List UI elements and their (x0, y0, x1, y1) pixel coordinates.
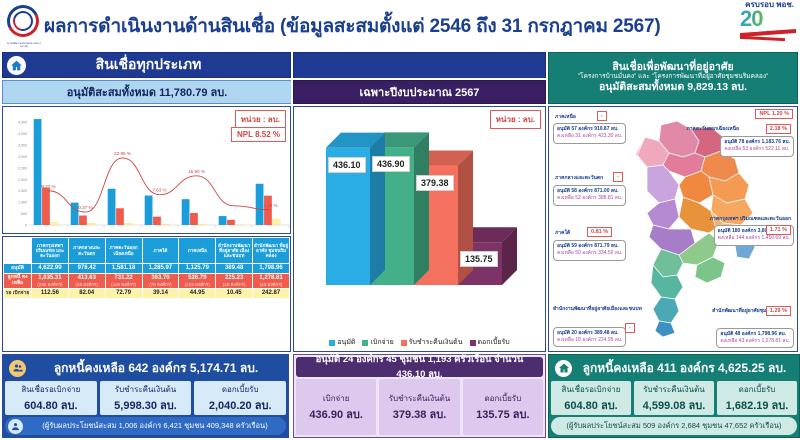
col-header-4: ภาคเหนือ (179, 238, 216, 264)
housing-loan-title: สินเชื่อเพื่อพัฒนาที่อยู่อาศัย (551, 61, 795, 73)
metric-disbursed: เบิกจ่าย 436.90 ลบ. (296, 379, 376, 435)
mid-column: เฉพาะปีงบประมาณ 2567 หน่วย : ลบ. 436.104… (293, 52, 546, 438)
svg-text:4,500: 4,500 (18, 120, 27, 124)
region-data-table: ภาคกรุงเทพฯ ปริมณฑล และตะวันออก ภาคกลางแ… (3, 237, 290, 299)
fiscal-3d-bar-chart (294, 107, 545, 319)
cell-r1c3: 363.70(70 องค์กร) (142, 273, 179, 288)
table-row: ลูกหนี้ คงเหลือ 1,635.31(236 องค์กร) 413… (4, 273, 290, 288)
bottom-blue-footer: (ผู้รับผลประโยชน์สะสม 1,006 องค์กร 6,421… (5, 417, 286, 435)
metric-principal-housing: รับชำระคืนเงินต้น 4,599.08 ลบ. (634, 381, 714, 415)
region-label-central: ภาคกลางและตะวันตก (555, 174, 603, 182)
cell-r0c3: 1,285.97 (142, 264, 179, 274)
metric-label: ดอกเบี้ยรับ (194, 383, 286, 396)
legend-item[interactable]: อนุมัติ (329, 337, 355, 348)
region-npl-south: 0.81 % (587, 227, 612, 237)
cell-r2c4: 44.95 (179, 289, 216, 299)
metric-principal-repaid: รับชำระคืนเงินต้น 5,998.30 ลบ. (100, 381, 192, 415)
svg-text:9.27 %: 9.27 % (41, 184, 55, 189)
home-icon[interactable] (7, 56, 26, 75)
table-row: อนุมัติ 4,622.99 976.42 1,581.18 1,285.9… (4, 264, 290, 274)
region-npl-urban-rural: - (625, 323, 635, 333)
col-header-0: ภาคกรุงเทพฯ ปริมณฑล และตะวันออก (32, 238, 69, 264)
metric-value: 4,599.08 ลบ. (634, 396, 714, 414)
table-header-row: ภาคกรุงเทพฯ ปริมณฑล และตะวันออก ภาคกลางแ… (4, 238, 290, 264)
metric-pending-disbursement: สินเชื่อรอเบิกจ่าย 604.80 ลบ. (5, 381, 97, 415)
region-label-northeast: ภาคตะวันออกเฉียงเหนือ (686, 125, 739, 133)
metric-principal-repaid-fiscal: รับชำระคืนเงินต้น 379.38 ลบ. (379, 379, 459, 435)
housing-loan-total: อนุมัติสะสมทั้งหมด 9,829.13 ลบ. (551, 81, 795, 94)
metric-interest-housing: ดอกเบี้ยรับ 1,682.19 ลบ. (717, 381, 797, 415)
bar-series (34, 119, 289, 228)
callout-remaining: คงเหลือ 18 องค์กร 224.95 ลบ. (557, 337, 622, 344)
region-label-north: ภาคเหนือ (555, 113, 576, 121)
region-callout-south: อนุมัติ 59 องค์กร 871.79 ลบ. คงเหลือ 50 … (553, 240, 626, 261)
metric-pending-housing: สินเชื่อรอเบิกจ่าย 604.80 ลบ. (551, 381, 631, 415)
bottom-blue-cells: สินเชื่อรอเบิกจ่าย 604.80 ลบ. รับชำระคืน… (5, 381, 286, 415)
legend-label: ดอกเบี้ยรับ (478, 337, 510, 348)
metric-label: รับชำระคืนเงินต้น (634, 383, 714, 396)
user-group-icon (8, 419, 23, 434)
metric-label: รับชำระคืนเงินต้น (379, 392, 459, 405)
region-callout-central: อนุมัติ 58 องค์กร 871.00 ลบ. คงเหลือ 52 … (553, 185, 626, 206)
metric-label: ดอกเบี้ยรับ (717, 383, 797, 396)
svg-text:15.50 %: 15.50 % (188, 169, 205, 174)
svg-text:22.95 %: 22.95 % (114, 151, 131, 156)
col-header-2: ภาคตะวันออก เฉียงเหนือ (105, 238, 142, 264)
fiscal-year-header-spacer (293, 52, 546, 78)
bottom-panel-housing: ลูกหนี้คงเหลือ 411 องค์กร 4,625.25 ลบ. ส… (548, 354, 800, 438)
svg-text:2,500: 2,500 (18, 166, 27, 170)
right-column: สินเชื่อเพื่อพัฒนาที่อยู่อาศัย "โครงการบ… (548, 52, 798, 438)
metric-label: รับชำระคืนเงินต้น (100, 383, 192, 396)
table-row: รอ เบิกจ่าย 112.56 82.04 72.79 39.14 44.… (4, 289, 290, 299)
cell-r1c4: 526.79(103 องค์กร) (179, 273, 216, 288)
svg-text:3,000: 3,000 (18, 155, 27, 159)
metric-value: 1,682.19 ลบ. (717, 396, 797, 414)
fiscal-year-banner: เฉพาะปีงบประมาณ 2567 (293, 80, 546, 104)
legend-label: อนุมัติ (337, 337, 355, 348)
metric-value: 379.38 ลบ. (379, 405, 459, 423)
metric-value: 135.75 ลบ. (463, 405, 543, 423)
svg-text:7.63 %: 7.63 % (152, 188, 166, 193)
row-label-pending: รอ เบิกจ่าย (4, 289, 32, 299)
metric-interest-received: ดอกเบี้ยรับ 2,040.20 ลบ. (194, 381, 286, 415)
cell-r1c0: 1,635.31(236 องค์กร) (32, 273, 69, 288)
thailand-map-panel: ภาคเหนือ - อนุมัติ 57 องค์กร 910.87 ลบ. … (548, 106, 798, 352)
row-label-approved: อนุมัติ (4, 264, 32, 274)
row-label-remaining: ลูกหนี้ คงเหลือ (4, 273, 32, 288)
cell-r1c6: 1,278.81(43 องค์กร) (253, 273, 290, 288)
people-icon (9, 360, 26, 377)
region-npl-northeast: 2.18 % (766, 124, 791, 134)
cell-value: 1,635.31 (38, 275, 61, 281)
legend-swatch (401, 340, 407, 346)
bar-value-label: 379.38 (416, 175, 454, 191)
callout-remaining: คงเหลือ 52 องค์กร 388.81 ลบ. (557, 195, 622, 202)
dashboard-body: สินเชื่อทุกประเภท อนุมัติสะสมทั้งหมด 11,… (2, 52, 798, 438)
bottom-teal-footer-text: (ผู้รับผลประโยชน์สะสม 509 องค์กร 2,684 ช… (554, 420, 794, 432)
cell-r0c2: 1,581.18 (105, 264, 142, 274)
callout-remaining: คงเหลือ 144 องค์กร 1,450.69 ลบ. (718, 235, 790, 242)
table-corner (4, 238, 32, 264)
page-header: สถาบันพัฒนาองค์กรชุมชน (องค์การมหาชน) ผล… (0, 0, 800, 52)
metric-label: สินเชื่อรอเบิกจ่าย (5, 383, 97, 396)
cell-value: 731.22 (114, 275, 132, 281)
housing-loan-header: สินเชื่อเพื่อพัฒนาที่อยู่อาศัย "โครงการบ… (548, 52, 798, 104)
region-npl-north: - (597, 111, 607, 121)
cell-sub: (103 องค์กร) (179, 282, 215, 287)
npl-trend-line (49, 158, 271, 212)
bottom-blue-title: ลูกหนี้คงเหลือ 642 องค์กร 5,174.71 ลบ. (30, 359, 282, 378)
cell-value: 363.70 (151, 275, 169, 281)
bottom-teal-footer: (ผู้รับผลประโยชน์สะสม 509 องค์กร 2,684 ช… (551, 417, 797, 435)
codi-logo: สถาบันพัฒนาองค์กรชุมชน (องค์การมหาชน) (4, 3, 44, 49)
cell-value: 413.63 (78, 275, 96, 281)
cell-sub: (116 องค์กร) (106, 282, 142, 287)
page-title: ผลการดำเนินงานด้านสินเชื่อ (ข้อมูลสะสมตั… (44, 11, 740, 41)
cell-r1c5: 225.23(18 องค์กร) (216, 273, 253, 288)
region-npl-central: - (613, 172, 623, 182)
legend-item[interactable]: เบิกจ่าย (362, 337, 393, 348)
metric-value: 2,040.20 ลบ. (194, 396, 286, 414)
bottom-teal-title: ลูกหนี้คงเหลือ 411 องค์กร 4,625.25 ลบ. (576, 359, 793, 378)
region-npl-bangkok: 1.71 % (766, 225, 791, 235)
legend-label: เบิกจ่าย (370, 337, 393, 348)
cell-r2c0: 112.56 (32, 289, 69, 299)
npl-badge-right: NPL 1.20 % (755, 109, 793, 119)
bar-value-label: 135.75 (460, 251, 498, 267)
bottom-purple-cells: เบิกจ่าย 436.90 ลบ. รับชำระคืนเงินต้น 37… (296, 379, 543, 435)
bottom-teal-title-row: ลูกหนี้คงเหลือ 411 องค์กร 4,625.25 ลบ. (551, 357, 797, 379)
svg-text:500: 500 (21, 212, 27, 216)
bottom-blue-footer-text: (ผู้รับผลประโยชน์สะสม 1,006 องค์กร 6,421… (27, 420, 283, 432)
col-header-6: สำนักพัฒนา ที่อยู่อาศัย ชุมชนริมคลอง (253, 238, 290, 264)
col-header-3: ภาคใต้ (142, 238, 179, 264)
metric-label: เบิกจ่าย (296, 392, 376, 405)
metric-label: สินเชื่อรอเบิกจ่าย (551, 383, 631, 396)
cell-r1c2: 731.22(116 องค์กร) (105, 273, 142, 288)
anniversary-ribbon-2 (740, 36, 785, 41)
metric-value: 436.90 ลบ. (296, 405, 376, 423)
legend-swatch (329, 340, 335, 346)
cell-r2c6: 242.87 (253, 289, 290, 299)
cell-r2c1: 82.04 (68, 289, 105, 299)
left-column: สินเชื่อทุกประเภท อนุมัติสะสมทั้งหมด 11,… (2, 52, 291, 438)
loan-by-region-combo-chart: 05001,0001,5002,0002,5003,0003,5004,0004… (3, 107, 291, 233)
callout-remaining: คงเหลือ 53 องค์กร 522.11 ลบ. (724, 146, 790, 153)
bottom-teal-cells: สินเชื่อรอเบิกจ่าย 604.80 ลบ. รับชำระคืน… (551, 381, 797, 415)
callout-remaining: คงเหลือ 31 องค์กร 423.30 ลบ. (557, 133, 622, 140)
region-label-south: ภาคใต้ (555, 229, 570, 237)
home-icon[interactable] (555, 360, 572, 377)
cell-sub: (58 องค์กร) (69, 282, 105, 287)
bottom-purple-title-row: อนุมัติ 24 องค์กร 45 ชุมชน 1,193 ครัวเรื… (296, 357, 543, 377)
cell-r0c4: 1,125.79 (179, 264, 216, 274)
all-loan-types-title: สินเชื่อทุกประเภท (26, 54, 290, 76)
cell-sub: (18 องค์กร) (216, 282, 252, 287)
region-label-urban-rural: สำนักงานพัฒนาที่อยู่อาศัยเมืองและชนบท (553, 305, 642, 313)
cell-value: 1,278.81 (259, 275, 282, 281)
cumulative-approved-banner: อนุมัติสะสมทั้งหมด 11,780.79 ลบ. (2, 80, 291, 104)
cell-r0c0: 4,622.99 (32, 264, 69, 274)
region-data-table-wrap: ภาคกรุงเทพฯ ปริมณฑล และตะวันออก ภาคกลางแ… (2, 236, 291, 352)
metric-value: 5,998.30 ลบ. (100, 396, 192, 414)
cell-r2c3: 39.14 (142, 289, 179, 299)
cell-r0c5: 389.48 (216, 264, 253, 274)
col-header-5: สำนักงานพัฒนา ที่อยู่อาศัย เมืองและชนบท (216, 238, 253, 264)
fiscal-3d-chart-panel: หน่วย : ลบ. 436.10436.90379.38135.75 อนุ… (293, 106, 546, 352)
bar-value-label: 436.90 (372, 156, 410, 172)
legend-item[interactable]: รับชำระคืนเงินต้น (401, 337, 463, 348)
loan-by-region-chart-panel: หน่วย : ลบ. NPL 8.52 % 05001,0001,5002,0… (2, 106, 291, 234)
legend-label: รับชำระคืนเงินต้น (409, 337, 463, 348)
metric-value: 604.80 ลบ. (5, 396, 97, 414)
cell-sub: (236 องค์กร) (32, 282, 68, 287)
svg-text:1.29 %: 1.29 % (263, 203, 277, 208)
bottom-panel-fiscal: อนุมัติ 24 องค์กร 45 ชุมชน 1,193 ครัวเรื… (293, 354, 546, 438)
npl-point-labels: 9.27 %0.37 %22.95 %7.63 %15.50 %1.29 % (41, 151, 277, 210)
cell-r2c5: 10.45 (216, 289, 253, 299)
all-loan-types-header: สินเชื่อทุกประเภท (2, 52, 291, 78)
legend-item[interactable]: ดอกเบี้ยรับ (470, 337, 510, 348)
fiscal-chart-legend: อนุมัติเบิกจ่ายรับชำระคืนเงินต้นดอกเบี้ย… (294, 337, 545, 348)
callout-remaining: คงเหลือ 50 องค์กร 334.59 ลบ. (557, 250, 622, 257)
cell-r1c1: 413.63(58 องค์กร) (68, 273, 105, 288)
cell-r0c1: 976.42 (68, 264, 105, 274)
callout-approved: อนุมัติ 48 องค์กร 1,798.96 ลบ. (720, 331, 790, 338)
anniversary-logo: ครบรอบ พอช. 20 (740, 1, 796, 51)
cell-sub: (43 องค์กร) (253, 282, 289, 287)
cell-sub: (70 องค์กร) (143, 282, 179, 287)
svg-text:0: 0 (25, 224, 27, 228)
bottom-blue-title-row: ลูกหนี้คงเหลือ 642 องค์กร 5,174.71 ลบ. (5, 357, 286, 379)
svg-text:1,500: 1,500 (18, 189, 27, 193)
legend-swatch (362, 340, 368, 346)
region-callout-urban-rural: อนุมัติ 20 องค์กร 389.48 ลบ. คงเหลือ 18 … (553, 327, 626, 348)
legend-swatch (470, 340, 476, 346)
cell-r0c6: 1,798.96 (253, 264, 290, 274)
region-callout-canal: อนุมัติ 48 องค์กร 1,798.96 ลบ. คงเหลือ 4… (716, 328, 794, 349)
bottom-panel-all-loans: ลูกหนี้คงเหลือ 642 องค์กร 5,174.71 ลบ. ส… (2, 354, 289, 438)
bar-value-label: 436.10 (328, 157, 366, 173)
svg-text:0.37 %: 0.37 % (78, 205, 92, 210)
metric-interest-fiscal: ดอกเบี้ยรับ 135.75 ลบ. (463, 379, 543, 435)
region-label-bangkok: ภาคกรุงเทพฯ ปริมณฑลและตะวันออก (710, 215, 791, 223)
bottom-purple-title: อนุมัติ 24 องค์กร 45 ชุมชน 1,193 ครัวเรื… (300, 352, 539, 382)
svg-text:4,000: 4,000 (18, 132, 27, 136)
cell-r2c2: 72.79 (105, 289, 142, 299)
region-npl-canal: 1.29 % (766, 306, 791, 316)
logo-caption: สถาบันพัฒนาองค์กรชุมชน (องค์การมหาชน) (4, 43, 44, 49)
svg-text:1,000: 1,000 (18, 201, 27, 205)
y-axis-ticks: 05001,0001,5002,0002,5003,0003,5004,0004… (18, 120, 27, 227)
region-callout-north: อนุมัติ 57 องค์กร 910.87 ลบ. คงเหลือ 31 … (553, 123, 626, 144)
anniversary-number: 20 (740, 9, 796, 30)
metric-value: 604.80 ลบ. (551, 396, 631, 414)
cell-value: 225.23 (225, 275, 243, 281)
callout-remaining: คงเหลือ 43 องค์กร 1,278.81 ลบ. (720, 338, 790, 345)
svg-text:2,000: 2,000 (18, 178, 27, 182)
metric-label: ดอกเบี้ยรับ (463, 392, 543, 405)
svg-text:3,500: 3,500 (18, 143, 27, 147)
cell-value: 526.79 (188, 275, 206, 281)
region-callout-northeast: อนุมัติ 78 องค์กร 1,183.76 ลบ. คงเหลือ 5… (720, 136, 794, 157)
col-header-1: ภาคกลางและ ตะวันตก (68, 238, 105, 264)
callout-approved: อนุมัติ 20 องค์กร 389.48 ลบ. (557, 330, 622, 337)
